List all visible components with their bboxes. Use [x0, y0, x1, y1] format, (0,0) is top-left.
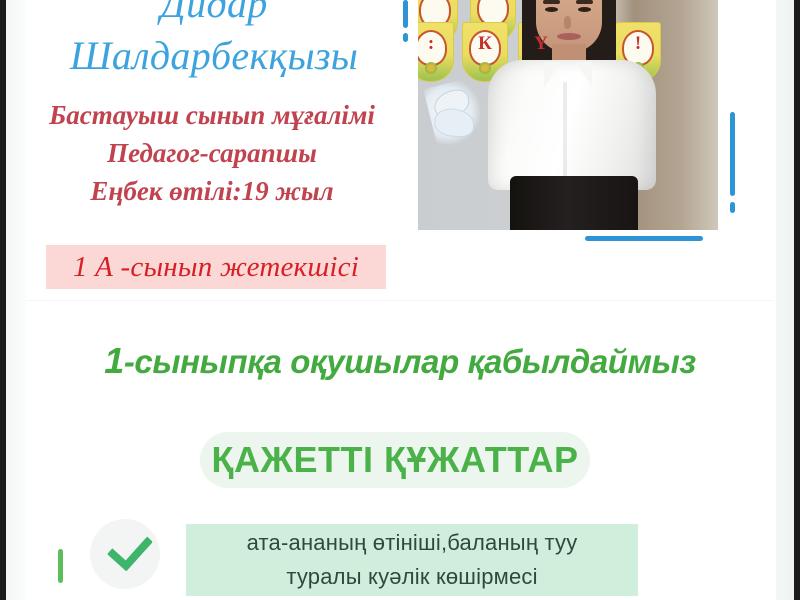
wall-medallion: : [418, 22, 454, 82]
enrollment-headline: 1-сыныпқа оқушылар қабылдаймыз [0, 340, 800, 382]
poster-canvas: Дидар Шалдарбекқызы Бастауыш сынып мұғал… [0, 0, 800, 600]
exclamation-accent-icon [403, 0, 408, 28]
document-requirement-text: ата-ананың өтініші,баланың туу туралы ку… [186, 524, 638, 596]
enrollment-headline-lead: 1 [104, 340, 124, 381]
wall-letter: К [463, 33, 507, 55]
figure-shirt [488, 60, 656, 190]
wall-letter: ! [616, 33, 660, 55]
required-documents-pill: ҚАЖЕТТІ ҚҰЖАТТАР [200, 432, 590, 488]
enrollment-headline-rest: -сыныпқа оқушылар қабылдаймыз [124, 343, 696, 380]
homeroom-badge-label: 1 А -сынып жетекшісі [73, 251, 359, 284]
exclamation-accent-icon [730, 112, 735, 196]
figure-collar [544, 62, 560, 88]
document-list-item: ата-ананың өтініші,баланың туу туралы ку… [40, 517, 760, 597]
figure-placket [563, 82, 567, 188]
figure-nose [564, 16, 571, 29]
list-marker-bar [58, 549, 63, 583]
teacher-role-lines: Бастауыш сынып мұғалімі Педагог-сарапшы … [14, 96, 410, 210]
dove-drawing [423, 77, 488, 150]
teacher-photo: : К Ү ! [418, 0, 718, 230]
photo-image: : К Ү ! [418, 0, 718, 230]
photo-underline-accent [585, 236, 703, 241]
exclamation-accent-icon [403, 33, 408, 42]
figure-eye [545, 7, 558, 12]
figure-collar [576, 62, 592, 88]
section-divider [26, 300, 774, 301]
teacher-name: Дидар Шалдарбекқызы [18, 0, 410, 82]
figure-eye [578, 7, 591, 12]
wall-letter: : [418, 33, 453, 55]
figure-eyebrow [543, 0, 560, 4]
required-documents-pill-label: ҚАЖЕТТІ ҚҰЖАТТАР [212, 439, 579, 481]
frame-edge-right [794, 0, 800, 600]
figure-eyebrow [576, 0, 593, 4]
figure-skirt [510, 176, 638, 230]
exclamation-accent-icon [730, 202, 735, 213]
wall-letter: Ү [519, 33, 563, 55]
homeroom-badge: 1 А -сынып жетекшісі [46, 245, 386, 289]
